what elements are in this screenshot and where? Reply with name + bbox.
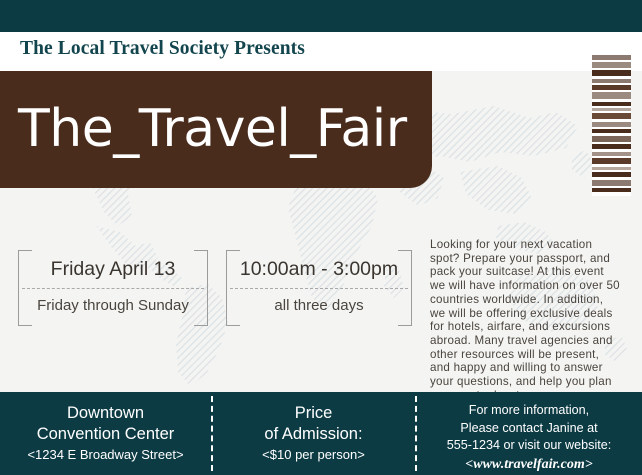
event-title: The_Travel_Fair [18, 87, 407, 171]
event-time: 10:00am - 3:00pm [226, 253, 412, 285]
event-time-detail: all three days [226, 291, 412, 321]
barcode-bar [592, 92, 631, 99]
top-accent-bar [0, 0, 642, 32]
corner-stub-bottom-right [398, 325, 412, 326]
corner-stub-top-right [194, 250, 208, 251]
box-dashed-divider [230, 288, 408, 289]
footer-divider-1 [211, 396, 213, 471]
corner-stub-top-right [398, 250, 412, 251]
title-banner: The_Travel_Fair [0, 71, 432, 188]
venue-line-2: Convention Center [0, 424, 211, 445]
contact-line-2: Please contact Janine at [416, 420, 642, 438]
contact-phone: 555-1234 or visit our website: [416, 437, 642, 455]
price-line-1: Price [212, 403, 415, 424]
corner-stub-bottom-left [226, 325, 240, 326]
time-info-box: 10:00am - 3:00pm all three days [226, 250, 412, 326]
corner-stub-bottom-left [18, 325, 32, 326]
contact-website[interactable]: <www.travelfair.com> [416, 455, 642, 474]
event-date-detail: Friday through Sunday [18, 291, 208, 321]
price-amount: <$10 per person> [212, 445, 415, 464]
footer-price-column: Price of Admission: <$10 per person> [212, 392, 415, 475]
barcode-bar [592, 192, 631, 195]
price-line-2: of Admission: [212, 424, 415, 445]
venue-address: <1234 E Broadway Street> [0, 445, 211, 464]
barcode-icon [592, 52, 631, 196]
corner-stub-bottom-right [194, 325, 208, 326]
corner-stub-top-left [226, 250, 240, 251]
box-dashed-divider [22, 288, 204, 289]
footer-contact-column: For more information, Please contact Jan… [416, 392, 642, 475]
footer: Downtown Convention Center <1234 E Broad… [0, 392, 642, 475]
event-date: Friday April 13 [18, 253, 208, 285]
footer-venue-column: Downtown Convention Center <1234 E Broad… [0, 392, 211, 475]
footer-divider-2 [415, 396, 417, 471]
date-info-box: Friday April 13 Friday through Sunday [18, 250, 208, 326]
corner-stub-top-left [18, 250, 32, 251]
venue-line-1: Downtown [0, 403, 211, 424]
presenter-title: The Local Travel Society Presents [20, 38, 305, 60]
contact-line-1: For more information, [416, 402, 642, 420]
event-description: Looking for your next vacation spot? Pre… [430, 238, 620, 402]
travel-fair-ticket: The Local Travel Society Presents The_Tr… [0, 0, 642, 475]
